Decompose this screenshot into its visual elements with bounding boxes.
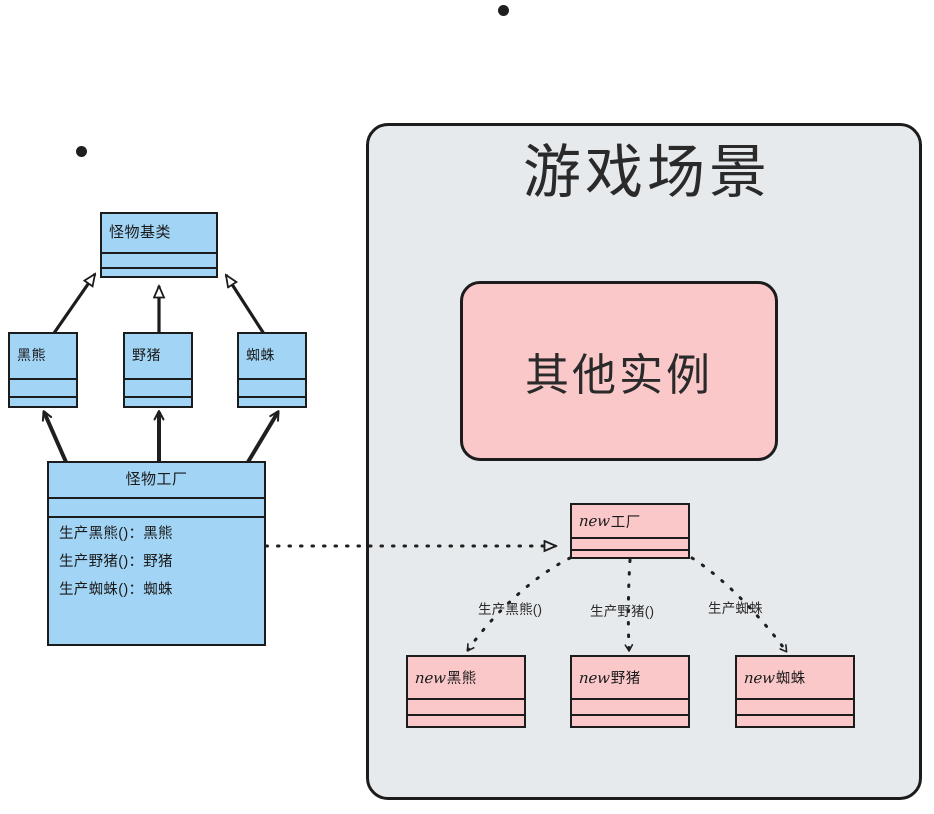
class-box-heixiong[interactable]: 黑熊 xyxy=(8,332,78,408)
class-title-yezhu: 野猪 xyxy=(132,348,161,363)
instance-box-new-yezhu[interactable]: new 野猪 xyxy=(570,655,690,728)
instance-name-zhizhu: 蜘蛛 xyxy=(776,667,806,688)
method-produce-zhizhu: 生产蜘蛛()：蜘蛛 xyxy=(59,583,254,598)
method-produce-heixiong: 生产黑熊()：黑熊 xyxy=(59,527,254,542)
new-keyword: new xyxy=(743,669,775,687)
instance-name-yezhu: 野猪 xyxy=(611,667,641,688)
new-keyword: new xyxy=(578,512,610,530)
new-keyword: new xyxy=(578,669,610,687)
edge-label-produce-zhizhu: 生产蜘蛛 xyxy=(708,597,763,617)
class-box-yezhu[interactable]: 野猪 xyxy=(123,332,193,408)
left-bullet-dot xyxy=(76,146,87,157)
class-title-monster-factory: 怪物工厂 xyxy=(125,472,187,489)
class-box-monster-factory[interactable]: 怪物工厂 生产黑熊()：黑熊 生产野猪()：野猪 生产蜘蛛()：蜘蛛 xyxy=(47,461,266,646)
instance-box-new-heixiong[interactable]: new 黑熊 xyxy=(406,655,526,728)
class-box-monster-base[interactable]: 怪物基类 xyxy=(100,212,218,278)
new-keyword: new xyxy=(414,669,446,687)
instance-box-new-zhizhu[interactable]: new 蜘蛛 xyxy=(735,655,855,728)
class-methods-monster-factory: 生产黑熊()：黑熊 生产野猪()：野猪 生产蜘蛛()：蜘蛛 xyxy=(49,516,264,607)
instance-name-factory: 工厂 xyxy=(611,511,641,532)
edge-label-produce-yezhu: 生产野猪() xyxy=(590,600,654,620)
instance-name-heixiong: 黑熊 xyxy=(447,667,477,688)
class-box-zhizhu[interactable]: 蜘蛛 xyxy=(237,332,307,408)
edge-label-produce-heixiong: 生产黑熊() xyxy=(478,598,542,618)
class-title-heixiong: 黑熊 xyxy=(17,348,46,363)
generalization-arrow-heixiong xyxy=(52,274,95,336)
factory-to-zhizhu-arrow xyxy=(248,412,278,462)
generalization-arrow-zhizhu xyxy=(226,275,266,337)
instance-box-new-factory[interactable]: new 工厂 xyxy=(570,503,690,559)
class-title-monster-base: 怪物基类 xyxy=(109,225,171,242)
class-title-zhizhu: 蜘蛛 xyxy=(246,348,275,363)
uml-diagram-canvas: 游戏场景 其他实例 xyxy=(0,0,934,814)
factory-to-heixiong-arrow xyxy=(44,412,66,462)
top-bullet-dot xyxy=(498,5,509,16)
method-produce-yezhu: 生产野猪()：野猪 xyxy=(59,555,254,570)
